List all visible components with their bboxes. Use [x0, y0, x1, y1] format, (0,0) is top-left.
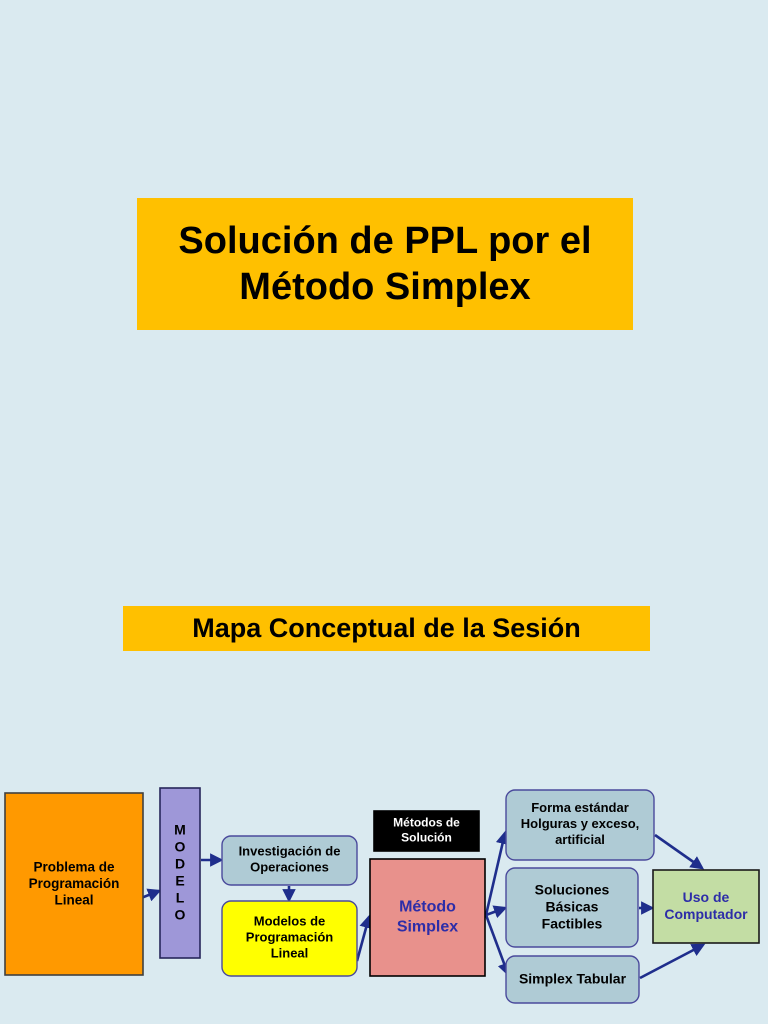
node-label-simplex-tabular: Simplex Tabular — [519, 970, 627, 986]
arrow-tabular-to-uso — [640, 945, 703, 978]
arrow-modelos-to-simplex — [357, 917, 369, 961]
node-metodos-solucion[interactable]: Métodos deSolución — [374, 811, 479, 851]
node-soluciones-basicas[interactable]: SolucionesBásicasFactibles — [506, 868, 638, 947]
node-label-metodos-solucion: Métodos deSolución — [393, 816, 460, 845]
arrow-forma-to-uso — [655, 835, 702, 868]
page-title: Solución de PPL por el Método Simplex — [178, 218, 591, 311]
node-metodo-simplex[interactable]: MétodoSimplex — [370, 859, 485, 976]
node-problema[interactable]: Problema deProgramaciónLineal — [5, 793, 143, 975]
node-uso-computador[interactable]: Uso deComputador — [653, 870, 759, 943]
node-investigacion[interactable]: Investigación deOperaciones — [222, 836, 357, 885]
node-label-modelo: MODELO — [174, 821, 186, 922]
diagram-nodes: Problema deProgramaciónLinealMODELOInves… — [5, 788, 759, 1003]
subtitle-label: Mapa Conceptual de la Sesión — [192, 613, 581, 644]
arrow-simplex-to-tabular — [486, 915, 508, 974]
slide-canvas: Solución de PPL por el Método Simplex Ma… — [0, 0, 768, 1024]
node-label-soluciones-basicas: SolucionesBásicasFactibles — [535, 881, 610, 931]
node-simplex-tabular[interactable]: Simplex Tabular — [506, 956, 639, 1003]
slide-title-box: Solución de PPL por el Método Simplex — [137, 198, 633, 330]
arrow-simplex-to-forma — [486, 833, 505, 915]
concept-map-diagram: Problema deProgramaciónLinealMODELOInves… — [0, 760, 768, 1024]
arrow-simplex-to-soluciones — [486, 908, 505, 915]
concept-map-svg: Problema deProgramaciónLinealMODELOInves… — [0, 760, 768, 1024]
subtitle-banner: Mapa Conceptual de la Sesión — [123, 606, 650, 651]
node-modelo[interactable]: MODELO — [160, 788, 200, 958]
node-label-investigacion: Investigación deOperaciones — [239, 844, 341, 875]
node-forma-estandar[interactable]: Forma estándarHolguras y exceso,artifici… — [506, 790, 654, 860]
node-modelos-pl[interactable]: Modelos deProgramaciónLineal — [222, 901, 357, 976]
